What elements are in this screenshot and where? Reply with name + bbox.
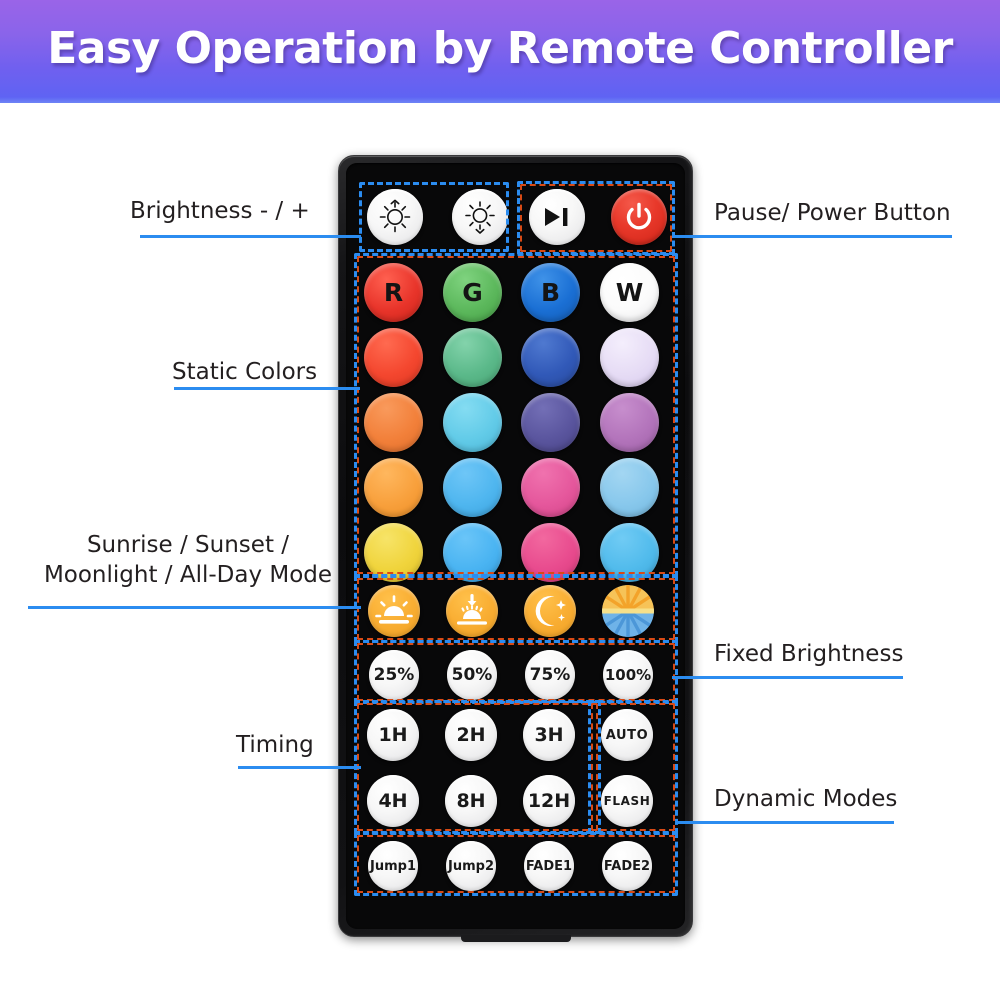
page-title: Easy Operation by Remote Controller: [47, 23, 953, 74]
callout-day-modes-line1: Sunrise / Sunset /: [18, 530, 358, 560]
sunset-button[interactable]: [446, 585, 498, 637]
color-button-r2c4[interactable]: [600, 328, 659, 387]
button-label: 25%: [374, 665, 415, 685]
power-icon: [623, 201, 655, 233]
color-button-r5c3[interactable]: [521, 523, 580, 582]
power-button[interactable]: [611, 189, 667, 245]
color-button-b[interactable]: B: [521, 263, 580, 322]
color-label: B: [541, 278, 560, 307]
callout-timing: Timing: [236, 730, 376, 760]
button-label: 3H: [534, 724, 563, 746]
button-label: FADE1: [526, 859, 572, 874]
timer-12h-button[interactable]: 12H: [523, 775, 575, 827]
page-root: Easy Operation by Remote Controller: [0, 0, 1000, 1000]
timer-3h-button[interactable]: 3H: [523, 709, 575, 761]
leader-fixed-brightness: [672, 676, 903, 679]
brightness-75-button[interactable]: 75%: [525, 650, 575, 700]
callout-brightness: Brightness - / +: [130, 196, 350, 226]
all-day-button[interactable]: [602, 585, 654, 637]
brightness-down-button[interactable]: [367, 189, 423, 245]
jump1-button[interactable]: Jump1: [368, 841, 418, 891]
color-button-r4c3[interactable]: [521, 458, 580, 517]
color-button-r4c4[interactable]: [600, 458, 659, 517]
color-button-r5c1[interactable]: [364, 523, 423, 582]
callout-day-modes-line2: Moonlight / All-Day Mode: [18, 560, 358, 590]
sunrise-icon: [375, 594, 413, 628]
callout-pause-power: Pause/ Power Button: [714, 198, 984, 228]
moon-icon: [531, 593, 569, 629]
header-banner: Easy Operation by Remote Controller: [0, 0, 1000, 97]
color-button-r5c2[interactable]: [443, 523, 502, 582]
button-label: Jump2: [448, 859, 494, 874]
play-pause-button[interactable]: [529, 189, 585, 245]
sunrise-button[interactable]: [368, 585, 420, 637]
leader-static-colors: [174, 387, 360, 390]
button-label: 8H: [456, 790, 485, 812]
leader-timing: [238, 766, 361, 769]
play-pause-icon: [542, 205, 572, 229]
remote-bottom-nub: [461, 935, 571, 942]
button-label: Jump1: [370, 859, 416, 874]
button-label: 4H: [378, 790, 407, 812]
button-label: AUTO: [606, 728, 649, 743]
callout-brightness-label: Brightness - / +: [130, 196, 350, 226]
button-label: 75%: [530, 665, 571, 685]
button-label: 100%: [605, 666, 651, 684]
brightness-25-button[interactable]: 25%: [369, 650, 419, 700]
sun-bright-icon: [462, 199, 498, 235]
brightness-up-button[interactable]: [452, 189, 508, 245]
callout-fixed-brightness: Fixed Brightness: [714, 639, 974, 669]
leader-brightness: [140, 235, 361, 238]
jump2-button[interactable]: Jump2: [446, 841, 496, 891]
callout-static-colors-label: Static Colors: [172, 357, 352, 387]
color-label: R: [384, 278, 403, 307]
fade1-button[interactable]: FADE1: [524, 841, 574, 891]
button-label: 12H: [528, 790, 570, 812]
fade2-button[interactable]: FADE2: [602, 841, 652, 891]
brightness-50-button[interactable]: 50%: [447, 650, 497, 700]
button-label: 1H: [378, 724, 407, 746]
color-button-r3c2[interactable]: [443, 393, 502, 452]
color-label: W: [616, 278, 644, 307]
color-button-r2c1[interactable]: [364, 328, 423, 387]
all-day-icon: [602, 585, 654, 637]
color-button-r3c3[interactable]: [521, 393, 580, 452]
callout-pause-power-label: Pause/ Power Button: [714, 198, 984, 228]
banner-underline: [0, 97, 1000, 103]
callout-dynamic-modes-label: Dynamic Modes: [714, 784, 974, 814]
timer-4h-button[interactable]: 4H: [367, 775, 419, 827]
color-button-r3c1[interactable]: [364, 393, 423, 452]
button-label: 50%: [452, 665, 493, 685]
brightness-100-button[interactable]: 100%: [603, 650, 653, 700]
color-button-r5c4[interactable]: [600, 523, 659, 582]
callout-fixed-brightness-label: Fixed Brightness: [714, 639, 974, 669]
remote-controller: R G B W: [338, 155, 693, 937]
leader-day-modes: [28, 606, 361, 609]
auto-button[interactable]: AUTO: [601, 709, 653, 761]
color-button-r[interactable]: R: [364, 263, 423, 322]
leader-pause-power: [672, 235, 952, 238]
callout-timing-label: Timing: [236, 730, 376, 760]
callout-dynamic-modes: Dynamic Modes: [714, 784, 974, 814]
color-button-r4c1[interactable]: [364, 458, 423, 517]
sun-dim-icon: [377, 199, 413, 235]
color-button-g[interactable]: G: [443, 263, 502, 322]
color-button-r2c3[interactable]: [521, 328, 580, 387]
sunset-icon: [453, 593, 491, 629]
flash-button[interactable]: FLASH: [601, 775, 653, 827]
color-button-r2c2[interactable]: [443, 328, 502, 387]
color-label: G: [462, 278, 483, 307]
timer-8h-button[interactable]: 8H: [445, 775, 497, 827]
button-label: 2H: [456, 724, 485, 746]
color-button-w[interactable]: W: [600, 263, 659, 322]
button-label: FLASH: [604, 794, 651, 808]
button-label: FADE2: [604, 859, 650, 874]
timer-2h-button[interactable]: 2H: [445, 709, 497, 761]
leader-dynamic-modes: [676, 821, 894, 824]
callout-static-colors: Static Colors: [172, 357, 352, 387]
callout-day-modes: Sunrise / Sunset / Moonlight / All-Day M…: [18, 530, 358, 590]
color-button-r3c4[interactable]: [600, 393, 659, 452]
moonlight-button[interactable]: [524, 585, 576, 637]
color-button-r4c2[interactable]: [443, 458, 502, 517]
